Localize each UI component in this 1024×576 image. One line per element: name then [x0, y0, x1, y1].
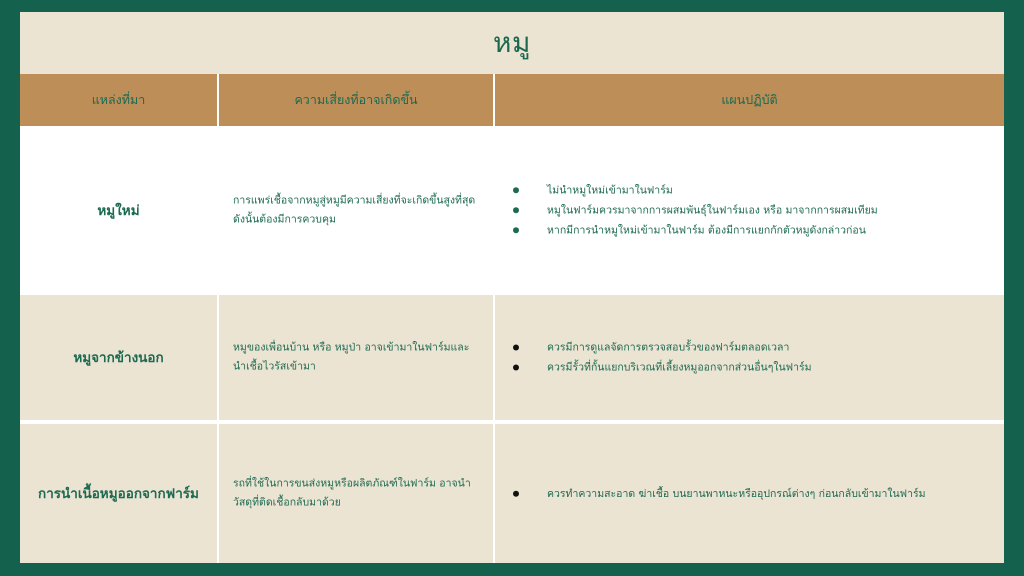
source-label: หมูจากข้างนอก	[20, 348, 217, 366]
page-title: หมู	[493, 28, 531, 59]
source-label: การนำเนื้อหมูออกจากฟาร์ม	[20, 484, 217, 502]
list-item: ควรมีการดูแลจัดการตรวจสอบรั้วของฟาร์มตลอ…	[513, 337, 990, 357]
plan-text: ไม่นำหมูใหม่เข้ามาในฟาร์ม	[547, 184, 673, 196]
cell-source: การนำเนื้อหมูออกจากฟาร์ม	[20, 424, 217, 563]
plan-text: ควรมีรั้วที่กั้นแยกบริเวณที่เลี้ยงหมูออก…	[547, 362, 812, 374]
column-header-risk: ความเสี่ยงที่อาจเกิดขึ้น	[219, 74, 493, 126]
list-item: หมูในฟาร์มควรมาจากการผสมพันธุ์ในฟาร์มเอง…	[513, 200, 990, 220]
list-item: ไม่นำหมูใหม่เข้ามาในฟาร์ม	[513, 180, 990, 200]
plan-text: ควรมีการดูแลจัดการตรวจสอบรั้วของฟาร์มตลอ…	[547, 341, 789, 353]
cell-risk: รถที่ใช้ในการขนส่งหมูหรือผลิตภัณฑ์ในฟาร์…	[219, 424, 493, 563]
list-item: หากมีการนำหมูใหม่เข้ามาในฟาร์ม ต้องมีการ…	[513, 221, 990, 241]
table-row: หมูจากข้างนอก หมูของเพื่อนบ้าน หรือ หมูป…	[20, 295, 1004, 420]
slide-root: หมู แหล่งที่มา ความเสี่ยงที่อาจเกิดขึ้น …	[0, 0, 1024, 576]
source-label: หมูใหม่	[20, 201, 217, 219]
cell-source: หมูใหม่	[20, 130, 217, 291]
cell-risk: หมูของเพื่อนบ้าน หรือ หมูป่า อาจเข้ามาใน…	[219, 295, 493, 420]
bullet-icon	[513, 490, 519, 496]
table-row: หมูใหม่ การแพร่เชื้อจากหมูสู่หมูมีความเส…	[20, 130, 1004, 291]
risk-text: หมูของเพื่อนบ้าน หรือ หมูป่า อาจเข้ามาใน…	[233, 338, 479, 377]
risk-text: รถที่ใช้ในการขนส่งหมูหรือผลิตภัณฑ์ในฟาร์…	[233, 474, 479, 513]
table-header-row: แหล่งที่มา ความเสี่ยงที่อาจเกิดขึ้น แผนป…	[20, 74, 1004, 126]
content-panel: หมู แหล่งที่มา ความเสี่ยงที่อาจเกิดขึ้น …	[20, 12, 1004, 563]
cell-plan: ไม่นำหมูใหม่เข้ามาในฟาร์ม หมูในฟาร์มควรม…	[495, 130, 1004, 291]
plan-text: หมูในฟาร์มควรมาจากการผสมพันธุ์ในฟาร์มเอง…	[547, 204, 878, 216]
plan-list: ควรทำความสะอาด ฆ่าเชื้อ บนยานพาหนะหรืออุ…	[513, 483, 990, 503]
bullet-icon	[513, 228, 519, 234]
bullet-icon	[513, 365, 519, 371]
cell-risk: การแพร่เชื้อจากหมูสู่หมูมีความเสี่ยงที่จ…	[219, 130, 493, 291]
bullet-icon	[513, 344, 519, 350]
bullet-icon	[513, 207, 519, 213]
table-row: การนำเนื้อหมูออกจากฟาร์ม รถที่ใช้ในการขน…	[20, 424, 1004, 563]
plan-text: ควรทำความสะอาด ฆ่าเชื้อ บนยานพาหนะหรืออุ…	[547, 487, 926, 499]
cell-source: หมูจากข้างนอก	[20, 295, 217, 420]
column-header-source: แหล่งที่มา	[20, 74, 217, 126]
plan-list: ไม่นำหมูใหม่เข้ามาในฟาร์ม หมูในฟาร์มควรม…	[513, 180, 990, 241]
plan-list: ควรมีการดูแลจัดการตรวจสอบรั้วของฟาร์มตลอ…	[513, 337, 990, 378]
column-header-plan: แผนปฏิบัติ	[495, 74, 1004, 126]
cell-plan: ควรทำความสะอาด ฆ่าเชื้อ บนยานพาหนะหรืออุ…	[495, 424, 1004, 563]
list-item: ควรทำความสะอาด ฆ่าเชื้อ บนยานพาหนะหรืออุ…	[513, 483, 990, 503]
cell-plan: ควรมีการดูแลจัดการตรวจสอบรั้วของฟาร์มตลอ…	[495, 295, 1004, 420]
bullet-icon	[513, 187, 519, 193]
plan-text: หากมีการนำหมูใหม่เข้ามาในฟาร์ม ต้องมีการ…	[547, 225, 866, 237]
title-band: หมู	[20, 12, 1004, 74]
risk-text: การแพร่เชื้อจากหมูสู่หมูมีความเสี่ยงที่จ…	[233, 191, 479, 230]
risk-plan-table: แหล่งที่มา ความเสี่ยงที่อาจเกิดขึ้น แผนป…	[20, 74, 1004, 563]
list-item: ควรมีรั้วที่กั้นแยกบริเวณที่เลี้ยงหมูออก…	[513, 358, 990, 378]
